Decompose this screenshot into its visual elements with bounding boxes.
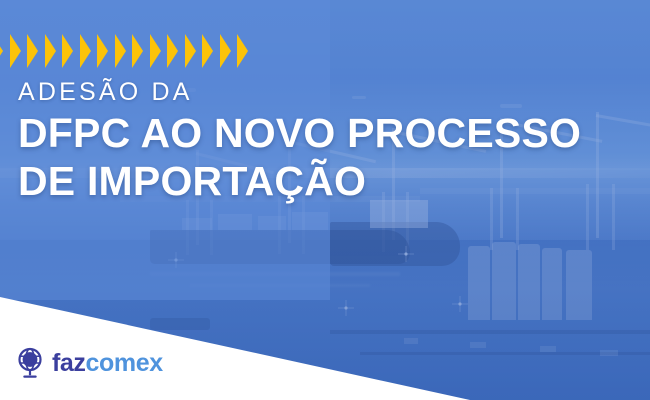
chevron-right-icon (167, 34, 178, 68)
logo-wordmark: fazcomex (52, 351, 163, 376)
chevron-right-icon (97, 34, 108, 68)
logo-text-primary: faz (52, 349, 86, 377)
page-title: DFPC AO NOVO PROCESSO DE IMPORTAÇÃO (18, 110, 618, 206)
chevron-right-icon (220, 34, 231, 68)
headline-line-1: DFPC AO NOVO PROCESSO (18, 110, 618, 158)
globe-icon (16, 347, 46, 379)
logo-text-secondary: comex (86, 349, 163, 377)
promotional-banner: ADESÃO DA DFPC AO NOVO PROCESSO DE IMPOR… (0, 0, 650, 400)
headline-line-2: DE IMPORTAÇÃO (18, 158, 618, 206)
chevron-right-icon (185, 34, 196, 68)
chevron-right-icon (237, 34, 248, 68)
chevron-right-icon (0, 34, 3, 68)
chevron-right-icon (80, 34, 91, 68)
chevron-strip (0, 34, 268, 68)
kicker-text: ADESÃO DA (18, 78, 193, 107)
brand-logo[interactable]: fazcomex (16, 347, 163, 379)
chevron-right-icon (45, 34, 56, 68)
chevron-right-icon (62, 34, 73, 68)
chevron-right-icon (202, 34, 213, 68)
chevron-right-icon (132, 34, 143, 68)
chevron-right-icon (27, 34, 38, 68)
chevron-right-icon (10, 34, 21, 68)
chevron-right-icon (150, 34, 161, 68)
chevron-right-icon (115, 34, 126, 68)
